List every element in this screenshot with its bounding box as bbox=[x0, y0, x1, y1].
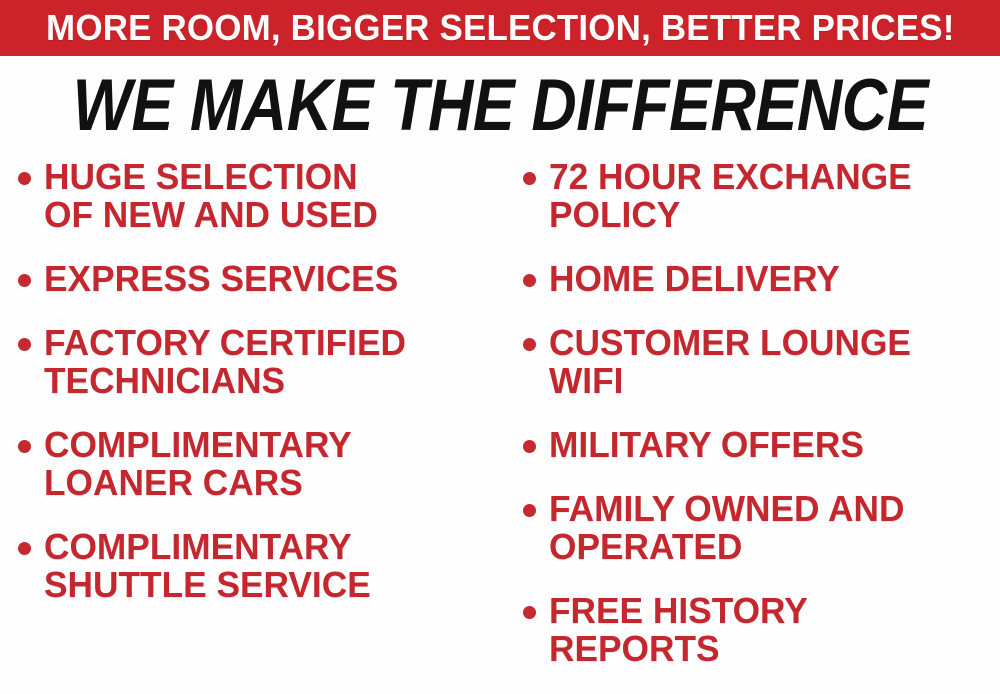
list-item: HOME DELIVERY bbox=[523, 260, 1000, 298]
list-item: MILITARY OFFERS bbox=[523, 426, 1000, 464]
bullet-dot-icon bbox=[18, 542, 31, 555]
list-item-label: EXPRESS SERVICES bbox=[44, 260, 398, 298]
bullet-dot-icon bbox=[523, 274, 536, 287]
list-item-label: COMPLIMENTARY LOANER CARS bbox=[44, 426, 352, 502]
list-item-label: CUSTOMER LOUNGE WIFI bbox=[549, 324, 911, 400]
list-item-label: HOME DELIVERY bbox=[549, 260, 840, 298]
promo-poster: MORE ROOM, BIGGER SELECTION, BETTER PRIC… bbox=[0, 0, 1000, 694]
bullet-dot-icon bbox=[18, 440, 31, 453]
list-item-label: HUGE SELECTION OF NEW AND USED bbox=[44, 158, 378, 234]
list-item: COMPLIMENTARY SHUTTLE SERVICE bbox=[18, 528, 505, 604]
list-item-label: MILITARY OFFERS bbox=[549, 426, 864, 464]
benefits-column-left: HUGE SELECTION OF NEW AND USED EXPRESS S… bbox=[0, 158, 505, 694]
headline-container: WE MAKE THE DIFFERENCE bbox=[0, 62, 1000, 148]
bullet-dot-icon bbox=[523, 338, 536, 351]
bullet-dot-icon bbox=[523, 606, 536, 619]
list-item-label: FAMILY OWNED AND OPERATED bbox=[549, 490, 904, 566]
top-banner: MORE ROOM, BIGGER SELECTION, BETTER PRIC… bbox=[0, 0, 1000, 56]
bullet-dot-icon bbox=[523, 504, 536, 517]
benefits-column-right: 72 HOUR EXCHANGE POLICY HOME DELIVERY CU… bbox=[505, 158, 1000, 694]
list-item: FREE HISTORY REPORTS bbox=[523, 592, 1000, 668]
list-item: HUGE SELECTION OF NEW AND USED bbox=[18, 158, 505, 234]
benefits-columns: HUGE SELECTION OF NEW AND USED EXPRESS S… bbox=[0, 158, 1000, 694]
list-item: EXPRESS SERVICES bbox=[18, 260, 505, 298]
list-item: CUSTOMER LOUNGE WIFI bbox=[523, 324, 1000, 400]
list-item-label: FACTORY CERTIFIED TECHNICIANS bbox=[44, 324, 406, 400]
list-item: FACTORY CERTIFIED TECHNICIANS bbox=[18, 324, 505, 400]
list-item-label: COMPLIMENTARY SHUTTLE SERVICE bbox=[44, 528, 371, 604]
list-item: FAMILY OWNED AND OPERATED bbox=[523, 490, 1000, 566]
list-item: 72 HOUR EXCHANGE POLICY bbox=[523, 158, 1000, 234]
list-item-label: 72 HOUR EXCHANGE POLICY bbox=[549, 158, 912, 234]
bullet-dot-icon bbox=[18, 274, 31, 287]
banner-headline: MORE ROOM, BIGGER SELECTION, BETTER PRIC… bbox=[46, 10, 955, 46]
bullet-dot-icon bbox=[523, 172, 536, 185]
list-item-label: FREE HISTORY REPORTS bbox=[549, 592, 808, 668]
bullet-dot-icon bbox=[523, 440, 536, 453]
bullet-dot-icon bbox=[18, 338, 31, 351]
bullet-dot-icon bbox=[18, 172, 31, 185]
page-title: WE MAKE THE DIFFERENCE bbox=[72, 69, 928, 142]
list-item: COMPLIMENTARY LOANER CARS bbox=[18, 426, 505, 502]
